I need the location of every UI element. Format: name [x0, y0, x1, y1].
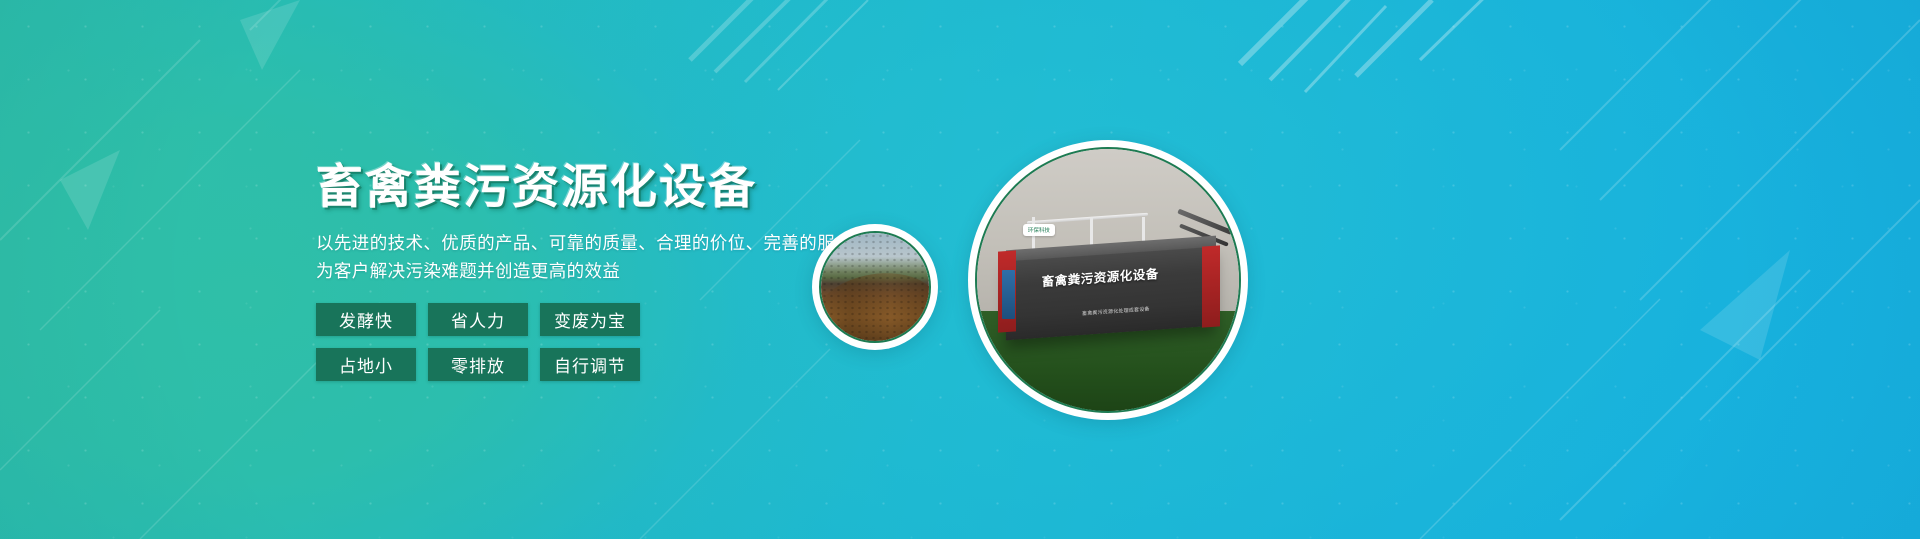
feature-tag-list: 发酵快 省人力 变废为宝 占地小 零排放 自行调节: [316, 303, 1056, 381]
machine-body: [1006, 246, 1216, 339]
feature-tag-small-footprint[interactable]: 占地小: [316, 348, 416, 381]
equipment-photo-ring: 环保科技 畜禽粪污资源化设备 畜禽粪污资源化处理成套设备: [975, 147, 1241, 413]
feature-tag-self-adjusting[interactable]: 自行调节: [540, 348, 640, 381]
compost-photo-ring: [819, 231, 931, 343]
control-kiosk: [1002, 270, 1015, 320]
feature-tag-labor-saving[interactable]: 省人力: [428, 303, 528, 336]
machine-end-cap-right: [1202, 245, 1220, 328]
compost-pile-photo: [812, 224, 938, 350]
subtitle-line-2: 为客户解决污染难题并创造更高的效益: [316, 257, 1056, 285]
page-title: 畜禽粪污资源化设备: [316, 160, 1056, 215]
banner-subtitle: 以先进的技术、优质的产品、可靠的质量、合理的价位、完善的服务 为客户解决污染难题…: [316, 229, 1056, 286]
brand-badge: 环保科技: [1023, 224, 1055, 236]
equipment-photo-frame: 环保科技 畜禽粪污资源化设备 畜禽粪污资源化处理成套设备: [968, 140, 1248, 420]
feature-tag-fermentation-fast[interactable]: 发酵快: [316, 303, 416, 336]
banner-content: 畜禽粪污资源化设备 以先进的技术、优质的产品、可靠的质量、合理的价位、完善的服务…: [316, 160, 1056, 381]
subtitle-line-1: 以先进的技术、优质的产品、可靠的质量、合理的价位、完善的服务: [316, 229, 1056, 257]
equipment-image: 环保科技 畜禽粪污资源化设备 畜禽粪污资源化处理成套设备: [977, 149, 1239, 411]
compost-image: [821, 233, 929, 341]
compost-photo-frame: [812, 224, 938, 350]
feature-tag-zero-emission[interactable]: 零排放: [428, 348, 528, 381]
feature-tag-waste-to-treasure[interactable]: 变废为宝: [540, 303, 640, 336]
promo-banner: 畜禽粪污资源化设备 以先进的技术、优质的产品、可靠的质量、合理的价位、完善的服务…: [0, 0, 1920, 539]
equipment-container-photo: 环保科技 畜禽粪污资源化设备 畜禽粪污资源化处理成套设备: [968, 140, 1248, 420]
